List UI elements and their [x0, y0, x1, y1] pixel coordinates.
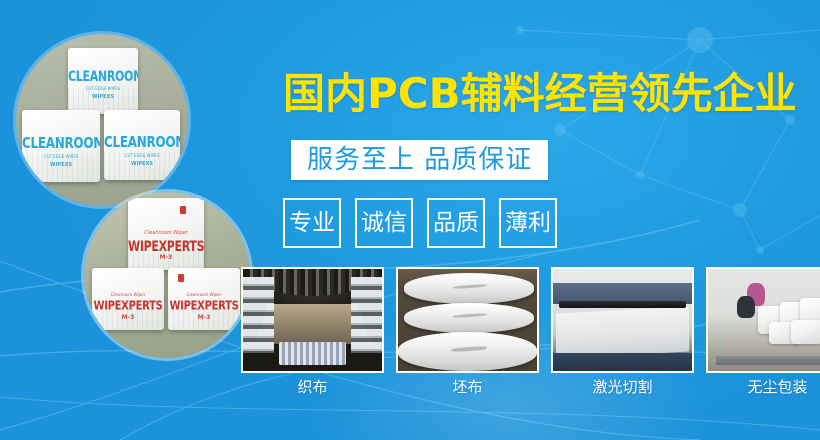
process-photo-strip: 织布 坯布 激光切割 [241, 267, 820, 395]
packing-table [716, 356, 820, 365]
wipe-bale [791, 320, 820, 344]
wipexperts-package: Cleanroom Wiper WIPEXPERTS M-3 [92, 268, 164, 330]
package-sub-label: Cleanroom Wiper [128, 230, 204, 236]
cleanroom-packaging-photo [706, 267, 820, 373]
banner-headline: 国内PCB辅料经营领先企业 [283, 73, 797, 115]
package-ridges [168, 305, 240, 330]
wipexperts-package: Cleanroom Wiper WIPEXPERTS M-3 [128, 198, 204, 270]
keyword-box-chengxin: 诚信 [355, 198, 413, 248]
photo-image [243, 269, 382, 371]
product-photo-circle-cleanroom: CLEANROOM CUT EDGE WIPES WIPEXS CLEANROO… [16, 34, 188, 206]
laser-cutting-machine-photo [551, 267, 694, 373]
photo-caption: 激光切割 [592, 380, 652, 395]
cleanroom-wipes-photo: CLEANROOM CUT EDGE WIPES WIPEXS CLEANROO… [16, 34, 188, 206]
knitting-machine-photo [241, 267, 384, 373]
fabric-roll [404, 273, 535, 304]
package-ridges [92, 305, 164, 330]
keyword-box-zhuanye: 专业 [283, 198, 341, 248]
cutting-bed [556, 306, 689, 358]
package-ridges [22, 153, 100, 182]
keyword-box-group: 专业 诚信 品质 薄利 [283, 198, 557, 248]
worker-figure [737, 296, 755, 318]
package-brand-label: CLEANROOM [104, 133, 180, 151]
photo-caption: 坯布 [452, 380, 482, 395]
photo-caption: 无尘包装 [747, 380, 807, 395]
package-ridges [104, 152, 180, 180]
slogan-text: 服务至上 品质保证 [307, 147, 532, 173]
yarn-spools-left [243, 277, 274, 352]
process-photo-cell: 激光切割 [551, 267, 694, 395]
promo-banner: CLEANROOM CUT EDGE WIPES WIPEXS CLEANROO… [0, 0, 820, 440]
wipes-package: CLEANROOM CUT EDGE WIPES WIPEXS [68, 48, 138, 114]
wipexperts-photo: Cleanroom Wiper WIPEXPERTS M-3 Cleanroom… [84, 192, 250, 358]
package-sub-label: Cleanroom Wiper [168, 292, 240, 297]
keyword-box-baoli: 薄利 [499, 198, 557, 248]
photo-image [398, 269, 537, 371]
greige-fabric-rolls-photo [396, 267, 539, 373]
wipes-package: CLEANROOM CUT EDGE WIPES WIPEXS [22, 110, 100, 182]
package-ridges [128, 241, 204, 270]
package-red-mark [178, 274, 184, 282]
photo-image [708, 269, 820, 371]
wipexperts-package: Cleanroom Wiper WIPEXPERTS M-3 [168, 268, 240, 330]
process-photo-cell: 无尘包装 [706, 267, 820, 395]
photo-image [553, 269, 692, 371]
process-photo-cell: 坯布 [396, 267, 539, 395]
fabric-roll [398, 332, 537, 371]
yarn-spools-right [351, 277, 382, 352]
product-photo-circle-wipexperts: Cleanroom Wiper WIPEXPERTS M-3 Cleanroom… [84, 192, 250, 358]
package-red-mark [180, 206, 186, 214]
package-sub-label: Cleanroom Wiper [92, 292, 164, 297]
process-photo-cell: 织布 [241, 267, 384, 395]
slogan-bar: 服务至上 品质保证 [291, 140, 548, 180]
photo-caption: 织布 [297, 380, 327, 395]
machine-base [553, 353, 692, 371]
fabric-roll [404, 303, 535, 334]
wipes-package: CLEANROOM CUT EDGE WIPES WIPEXS [104, 110, 180, 180]
package-brand-label: CLEANROOM [68, 68, 138, 84]
keyword-box-pinzhi: 品质 [427, 198, 485, 248]
package-brand-label: CLEANROOM [22, 134, 100, 152]
